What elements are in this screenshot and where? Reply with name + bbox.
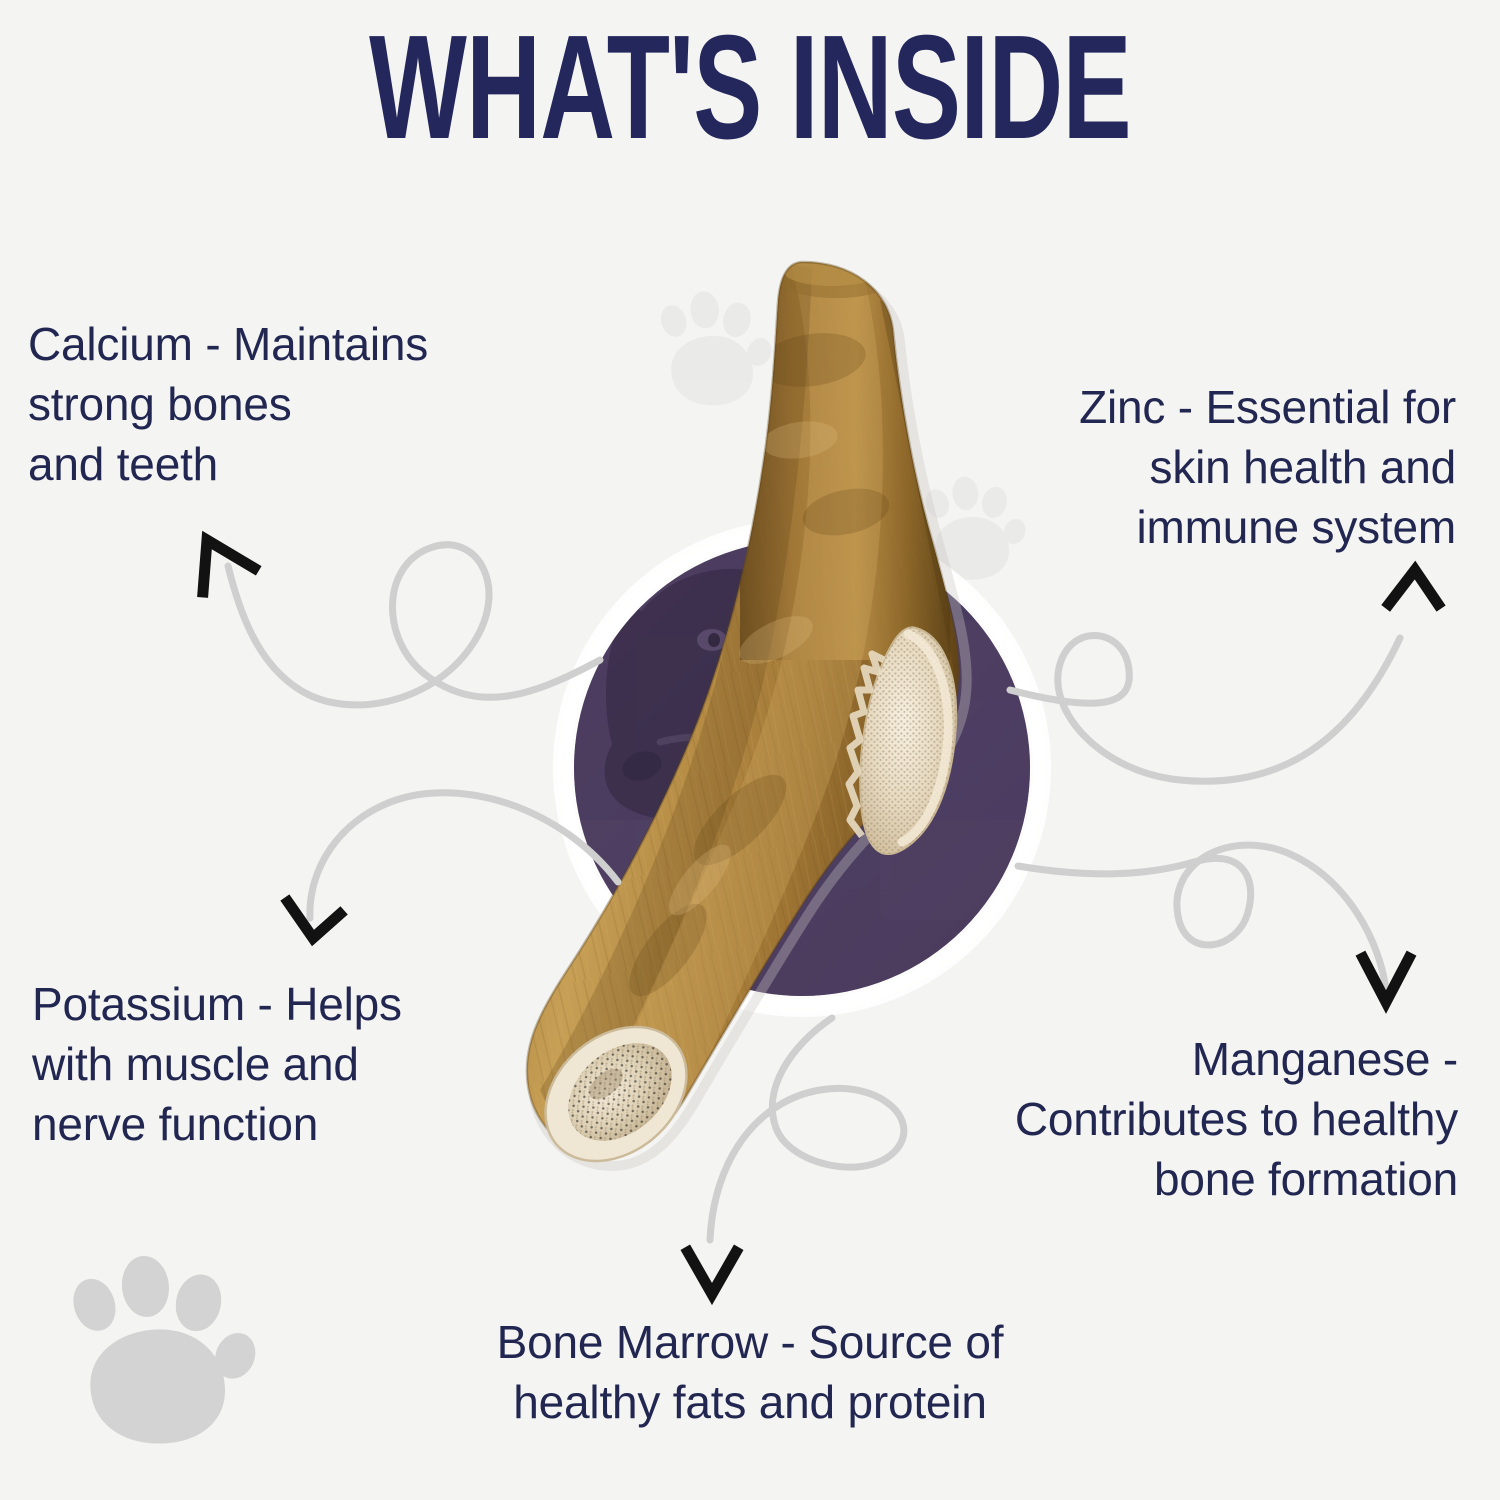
callout-calcium-line-3: and teeth [28,435,428,495]
callout-bone-marrow: Bone Marrow - Source of healthy fats and… [0,1313,1500,1433]
infographic-canvas: WHAT'S INSIDE [0,0,1500,1500]
callout-zinc-line-1: Zinc - Essential for [1079,378,1456,438]
callout-bone-marrow-line-1: Bone Marrow - Source of [0,1313,1500,1373]
callout-zinc-line-3: immune system [1079,498,1456,558]
callout-manganese-line-2: Contributes to healthy [1015,1090,1458,1150]
callout-manganese: Manganese - Contributes to healthy bone … [1015,1030,1458,1209]
callout-potassium-line-2: with muscle and [32,1035,402,1095]
callout-potassium-line-1: Potassium - Helps [32,975,402,1035]
callout-calcium: Calcium - Maintains strong bones and tee… [28,315,428,494]
callout-bone-marrow-line-2: healthy fats and protein [0,1373,1500,1433]
callout-zinc: Zinc - Essential for skin health and imm… [1079,378,1456,557]
callout-manganese-line-3: bone formation [1015,1150,1458,1210]
callout-manganese-line-1: Manganese - [1015,1030,1458,1090]
callout-calcium-line-2: strong bones [28,375,428,435]
callout-potassium: Potassium - Helps with muscle and nerve … [32,975,402,1154]
callout-calcium-line-1: Calcium - Maintains [28,315,428,375]
callout-potassium-line-3: nerve function [32,1095,402,1155]
callout-zinc-line-2: skin health and [1079,438,1456,498]
center-product-art [0,0,1500,1500]
